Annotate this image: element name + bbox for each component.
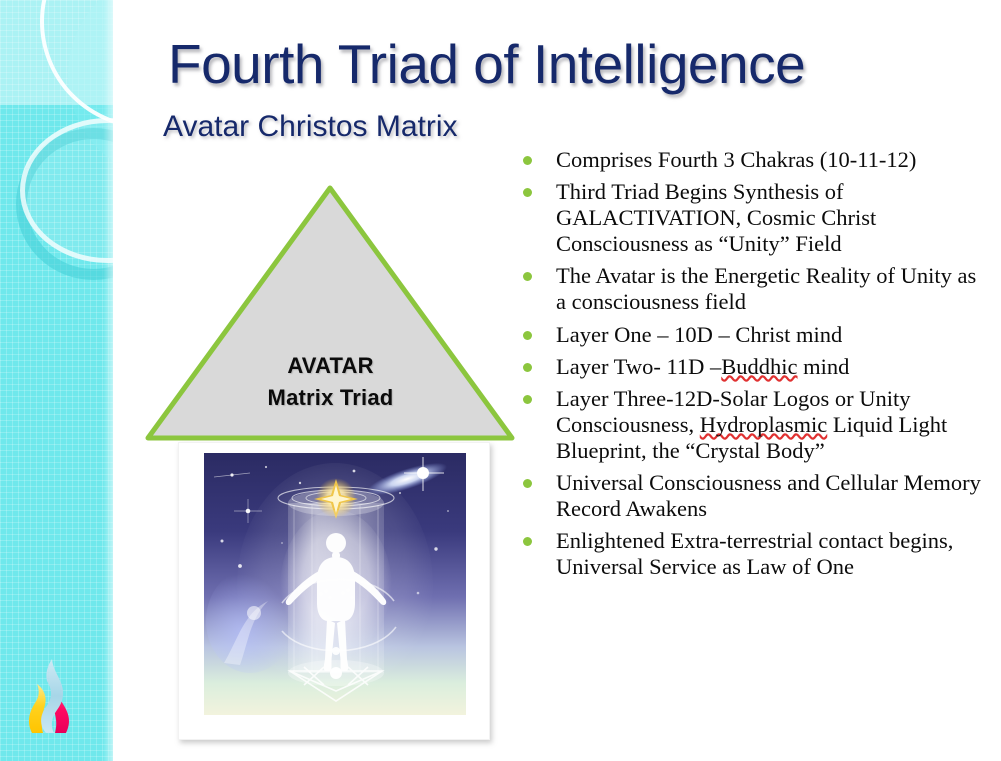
- list-item-text: Enlightened Extra-terrestrial contact be…: [556, 528, 953, 579]
- misspelled-word: Hydroplasmic: [700, 412, 827, 437]
- list-item-text: Universal Consciousness and Cellular Mem…: [556, 470, 981, 521]
- list-item: Universal Consciousness and Cellular Mem…: [518, 470, 988, 522]
- list-item: The Avatar is the Energetic Reality of U…: [518, 263, 988, 315]
- image-frame: [178, 442, 490, 740]
- list-item: Layer Three-12D-Solar Logos or Unity Con…: [518, 386, 988, 464]
- triangle-label-line2: Matrix Triad: [143, 382, 518, 414]
- decorative-sidebar: [0, 0, 113, 761]
- page-subtitle: Avatar Christos Matrix: [163, 110, 458, 144]
- list-item-text: Third Triad Begins Synthesis of GALACTIV…: [556, 179, 876, 256]
- list-item: Layer Two- 11D –Buddhic mind: [518, 354, 988, 380]
- avatar-triangle-diagram: AVATAR Matrix Triad: [143, 182, 518, 444]
- bullet-dot-icon: [523, 537, 532, 546]
- bullet-dot-icon: [523, 188, 532, 197]
- list-item-text: Layer One – 10D – Christ mind: [556, 322, 842, 347]
- sidebar-edge-gradient: [103, 0, 113, 761]
- list-item-text: The Avatar is the Energetic Reality of U…: [556, 263, 976, 314]
- ascension-light-body-illustration: [204, 453, 466, 715]
- bullet-dot-icon: [523, 363, 532, 372]
- bullet-list: Comprises Fourth 3 Chakras (10-11-12) Th…: [518, 147, 988, 586]
- bullet-dot-icon: [523, 156, 532, 165]
- list-item-text-pre: Layer Two- 11D –: [556, 354, 721, 379]
- list-item: Enlightened Extra-terrestrial contact be…: [518, 528, 988, 580]
- misspelled-word: Buddhic: [721, 354, 797, 379]
- list-item: Third Triad Begins Synthesis of GALACTIV…: [518, 179, 988, 257]
- bullet-dot-icon: [523, 272, 532, 281]
- bullet-dot-icon: [523, 331, 532, 340]
- triangle-label-line1: AVATAR: [143, 350, 518, 382]
- list-item: Layer One – 10D – Christ mind: [518, 322, 988, 348]
- triangle-label: AVATAR Matrix Triad: [143, 350, 518, 414]
- page-title: Fourth Triad of Intelligence: [168, 36, 958, 94]
- bullet-dot-icon: [523, 395, 532, 404]
- list-item-text-post: mind: [798, 354, 850, 379]
- bullet-dot-icon: [523, 479, 532, 488]
- list-item-text: Comprises Fourth 3 Chakras (10-11-12): [556, 147, 916, 172]
- list-item: Comprises Fourth 3 Chakras (10-11-12): [518, 147, 988, 173]
- tri-color-flame-logo: [22, 655, 86, 735]
